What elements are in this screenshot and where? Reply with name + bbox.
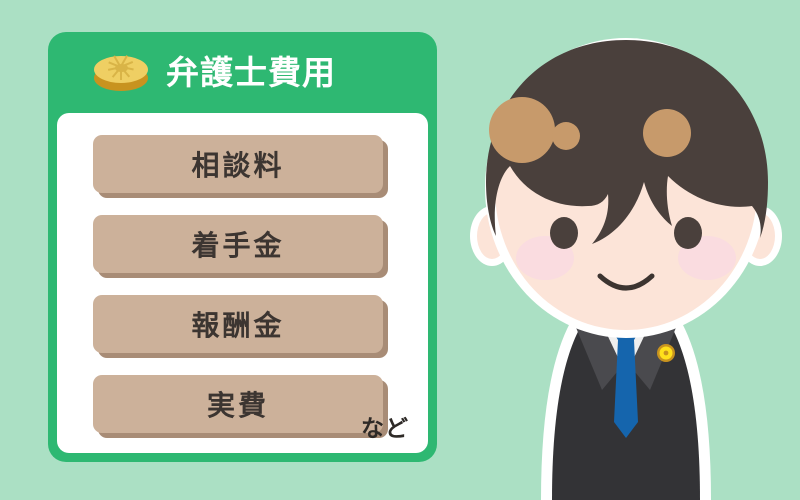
lawyer-badge-dot [664,351,669,356]
fee-button-consultation[interactable]: 相談料 [93,135,383,193]
list-item: 相談料 [93,135,389,197]
hair-highlight-right [643,109,691,157]
fee-button-reward[interactable]: 報酬金 [93,295,383,353]
hair-highlight-small [552,122,580,150]
list-item: 着手金 [93,215,389,277]
head-group [470,38,782,338]
fee-list: 相談料 着手金 報酬金 実費 など [57,113,428,453]
lawyer-svg [452,18,800,500]
hair-highlight-large [489,97,555,163]
eye-left [550,217,578,249]
list-item: 実費 [93,375,389,437]
fee-button-retainer[interactable]: 着手金 [93,215,383,273]
list-item: 報酬金 [93,295,389,357]
page-title: 弁護士費用 [166,56,336,89]
fee-card: 弁護士費用 相談料 着手金 報酬金 実費 など [48,32,437,462]
etcetera-label: など [361,409,409,443]
illustration-canvas: 弁護士費用 相談料 着手金 報酬金 実費 など [0,0,800,500]
eye-right [674,217,702,249]
lawyer-illustration [452,18,800,500]
card-panel: 相談料 着手金 報酬金 実費 など [57,113,428,453]
coin-bundle-icon [92,53,150,95]
card-header: 弁護士費用 [48,32,437,113]
fee-button-expenses[interactable]: 実費 [93,375,383,433]
